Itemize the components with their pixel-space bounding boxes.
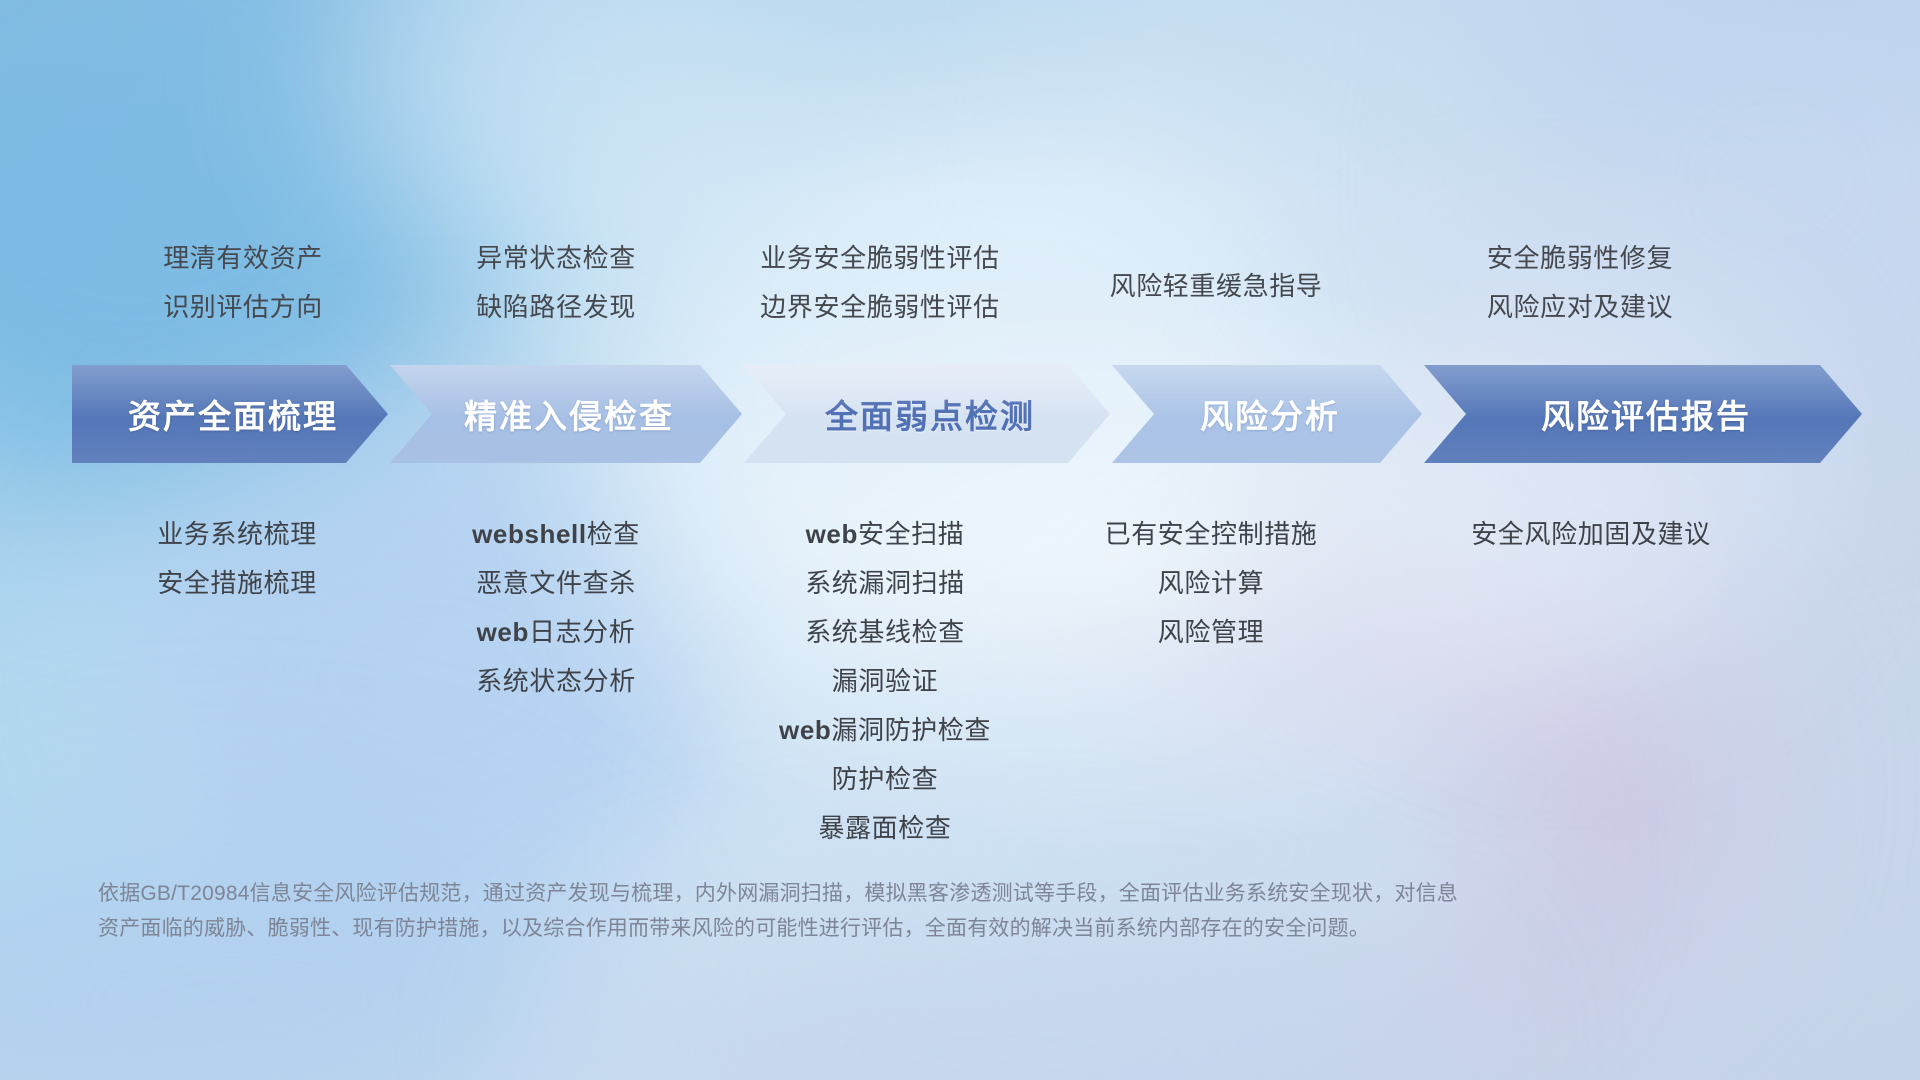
top-note: 识别评估方向: [78, 283, 408, 332]
top-notes-stage-1: 理清有效资产 识别评估方向: [78, 234, 408, 332]
item-list-stage-2: webshell检查 恶意文件查杀 web日志分析 系统状态分析: [396, 510, 716, 706]
chevron-stage-4-label: 风险分析: [1194, 390, 1340, 438]
list-item: 业务系统梳理: [72, 510, 402, 559]
list-item: 防护检查: [710, 755, 1060, 804]
chevron-stage-2-label: 精准入侵检查: [458, 390, 674, 438]
item-list-stage-5: 安全风险加固及建议: [1376, 510, 1806, 559]
item-list-stage-4: 已有安全控制措施 风险计算 风险管理: [1046, 510, 1376, 657]
footer-line: 依据GB/T20984信息安全风险评估规范，通过资产发现与梳理，内外网漏洞扫描，…: [98, 876, 1658, 911]
list-item: 系统基线检查: [710, 608, 1060, 657]
item-list-stage-3: web安全扫描 系统漏洞扫描 系统基线检查 漏洞验证 web漏洞防护检查 防护检…: [710, 510, 1060, 853]
list-item: 安全措施梳理: [72, 559, 402, 608]
list-item: 已有安全控制措施: [1046, 510, 1376, 559]
top-notes-stage-3: 业务安全脆弱性评估 边界安全脆弱性评估: [700, 234, 1060, 332]
top-notes-stage-4: 风险轻重缓急指导: [1056, 262, 1376, 311]
top-notes-stage-2: 异常状态检查 缺陷路径发现: [400, 234, 712, 332]
top-note: 风险应对及建议: [1380, 283, 1780, 332]
top-notes-stage-5: 安全脆弱性修复 风险应对及建议: [1380, 234, 1780, 332]
list-item: web日志分析: [396, 608, 716, 657]
flow-diagram: 理清有效资产 识别评估方向 异常状态检查 缺陷路径发现 业务安全脆弱性评估 边界…: [0, 0, 1920, 1080]
item-list-stage-1: 业务系统梳理 安全措施梳理: [72, 510, 402, 608]
list-item: 系统状态分析: [396, 657, 716, 706]
top-note: 异常状态检查: [400, 234, 712, 283]
list-item: 安全风险加固及建议: [1376, 510, 1806, 559]
list-item: 系统漏洞扫描: [710, 559, 1060, 608]
list-item: 漏洞验证: [710, 657, 1060, 706]
top-note: 边界安全脆弱性评估: [700, 283, 1060, 332]
chevron-stage-1-label: 资产全面梳理: [122, 390, 338, 438]
top-note: 业务安全脆弱性评估: [700, 234, 1060, 283]
list-item: 风险管理: [1046, 608, 1376, 657]
list-item: 暴露面检查: [710, 804, 1060, 853]
footer-line: 资产面临的威胁、脆弱性、现有防护措施，以及综合作用而带来风险的可能性进行评估，全…: [98, 911, 1658, 946]
process-chevron-banner: 资产全面梳理 精准入侵检查 全面弱点检测 风险分析 风险评估报告: [72, 365, 1862, 463]
top-note: 风险轻重缓急指导: [1056, 262, 1376, 311]
list-item: 恶意文件查杀: [396, 559, 716, 608]
chevron-stage-3-label: 全面弱点检测: [819, 390, 1035, 438]
list-item: web安全扫描: [710, 510, 1060, 559]
chevron-stage-5-label: 风险评估报告: [1535, 390, 1751, 438]
chevron-stage-4[interactable]: 风险分析: [1112, 365, 1422, 463]
chevron-stage-3[interactable]: 全面弱点检测: [744, 365, 1110, 463]
list-item: 风险计算: [1046, 559, 1376, 608]
top-note: 缺陷路径发现: [400, 283, 712, 332]
top-note: 理清有效资产: [78, 234, 408, 283]
top-note: 安全脆弱性修复: [1380, 234, 1780, 283]
chevron-stage-2[interactable]: 精准入侵检查: [390, 365, 742, 463]
chevron-stage-5[interactable]: 风险评估报告: [1424, 365, 1862, 463]
footer-description: 依据GB/T20984信息安全风险评估规范，通过资产发现与梳理，内外网漏洞扫描，…: [98, 876, 1658, 946]
chevron-stage-1[interactable]: 资产全面梳理: [72, 365, 388, 463]
list-item: web漏洞防护检查: [710, 706, 1060, 755]
list-item: webshell检查: [396, 510, 716, 559]
